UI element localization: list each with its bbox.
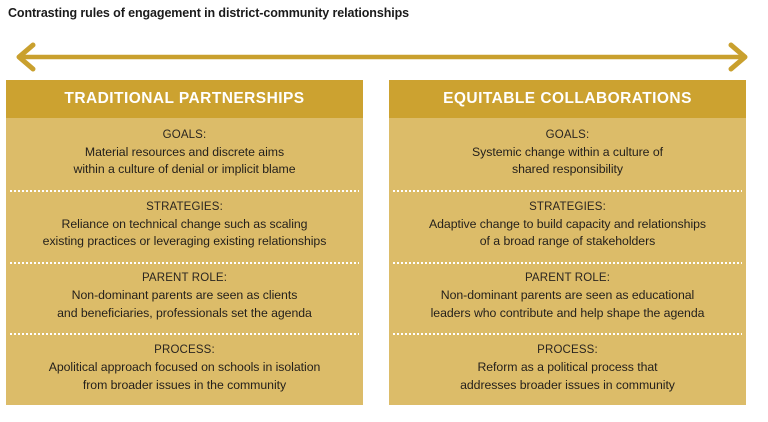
row-label-parent-role: PARENT ROLE:	[142, 270, 227, 287]
row-text-goals: Material resources and discrete aims wit…	[74, 144, 296, 179]
column-body-traditional-partnerships: GOALS: Material resources and discrete a…	[6, 118, 363, 405]
table-row: PROCESS: Apolitical approach focused on …	[6, 333, 363, 405]
table-row: GOALS: Material resources and discrete a…	[6, 118, 363, 190]
row-text-process: Reform as a political process that addre…	[460, 359, 675, 394]
column-header-equitable-collaborations: EQUITABLE COLLABORATIONS	[389, 80, 746, 118]
row-label-process: PROCESS:	[154, 342, 215, 359]
page-title: Contrasting rules of engagement in distr…	[8, 5, 748, 21]
row-label-strategies: STRATEGIES:	[529, 199, 606, 216]
table-row: STRATEGIES: Reliance on technical change…	[6, 190, 363, 262]
column-body-equitable-collaborations: GOALS: Systemic change within a culture …	[389, 118, 746, 405]
row-text-strategies: Adaptive change to build capacity and re…	[429, 216, 706, 251]
row-label-process: PROCESS:	[537, 342, 598, 359]
table-row: STRATEGIES: Adaptive change to build cap…	[389, 190, 746, 262]
row-text-process: Apolitical approach focused on schools i…	[49, 359, 321, 394]
row-label-parent-role: PARENT ROLE:	[525, 270, 610, 287]
table-row: PROCESS: Reform as a political process t…	[389, 333, 746, 405]
row-text-goals: Systemic change within a culture of shar…	[472, 144, 663, 179]
table-row: GOALS: Systemic change within a culture …	[389, 118, 746, 190]
row-text-strategies: Reliance on technical change such as sca…	[43, 216, 327, 251]
comparison-table: TRADITIONAL PARTNERSHIPS GOALS: Material…	[6, 80, 746, 405]
column-header-traditional-partnerships: TRADITIONAL PARTNERSHIPS	[6, 80, 363, 118]
bidirectional-arrow-icon	[6, 40, 758, 74]
row-text-parent-role: Non-dominant parents are seen as educati…	[431, 287, 705, 322]
table-row: PARENT ROLE: Non-dominant parents are se…	[389, 262, 746, 334]
column-traditional-partnerships: TRADITIONAL PARTNERSHIPS GOALS: Material…	[6, 80, 363, 405]
row-text-parent-role: Non-dominant parents are seen as clients…	[57, 287, 312, 322]
row-label-strategies: STRATEGIES:	[146, 199, 223, 216]
row-label-goals: GOALS:	[546, 127, 590, 144]
row-label-goals: GOALS:	[163, 127, 207, 144]
column-equitable-collaborations: EQUITABLE COLLABORATIONS GOALS: Systemic…	[389, 80, 746, 405]
table-row: PARENT ROLE: Non-dominant parents are se…	[6, 262, 363, 334]
